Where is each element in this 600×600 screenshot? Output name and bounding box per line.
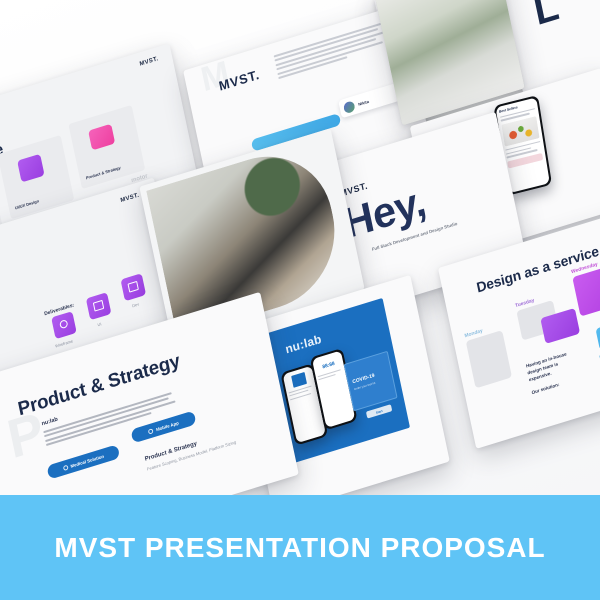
- deliverable-tile[interactable]: [120, 273, 146, 301]
- banner-title: MVST PRESENTATION PROPOSAL: [54, 532, 545, 564]
- tag-button[interactable]: Medical Solution: [46, 444, 120, 479]
- deliverable-tile[interactable]: [86, 292, 112, 320]
- avatar: [343, 100, 356, 114]
- deliverable-tile[interactable]: [51, 311, 77, 339]
- service-card-label: UI/UX Design: [14, 198, 39, 210]
- service-card-label: Product & Strategy: [85, 165, 121, 181]
- code-icon: [127, 281, 138, 293]
- showcase-logo: MVST.: [120, 193, 140, 205]
- our-service-logo: MVST.: [139, 56, 159, 68]
- layout-icon: [93, 300, 104, 312]
- tag-dot-icon: [62, 464, 68, 470]
- tag-button-label: Mobile App: [156, 420, 180, 432]
- lets-heading: L: [531, 0, 561, 28]
- deliverable-label: Wireframe: [55, 338, 74, 348]
- banner: MVST PRESENTATION PROPOSAL: [0, 495, 600, 600]
- product-project-name: nu:lab: [41, 417, 58, 428]
- deliverable-label: UI: [97, 321, 102, 327]
- design-note: Having an in-house design team is expens…: [525, 345, 590, 396]
- tag-dot-icon: [148, 428, 154, 434]
- person-chip[interactable]: Nikita: [338, 83, 401, 119]
- person-name: Nikita: [358, 98, 369, 106]
- hero-collage: Let's talk about your project L MVST. Ou…: [0, 0, 600, 600]
- magnifier-icon: [59, 319, 68, 329]
- day-block: [466, 330, 512, 388]
- tag-button-label: Medical Solution: [70, 453, 104, 468]
- covid-card: COVID-19 Order your test kit: [344, 351, 398, 412]
- feature-icon-tile[interactable]: [595, 322, 600, 350]
- deliverable-label: Dev: [132, 301, 140, 308]
- nulab-logo: nu:lab: [284, 332, 323, 357]
